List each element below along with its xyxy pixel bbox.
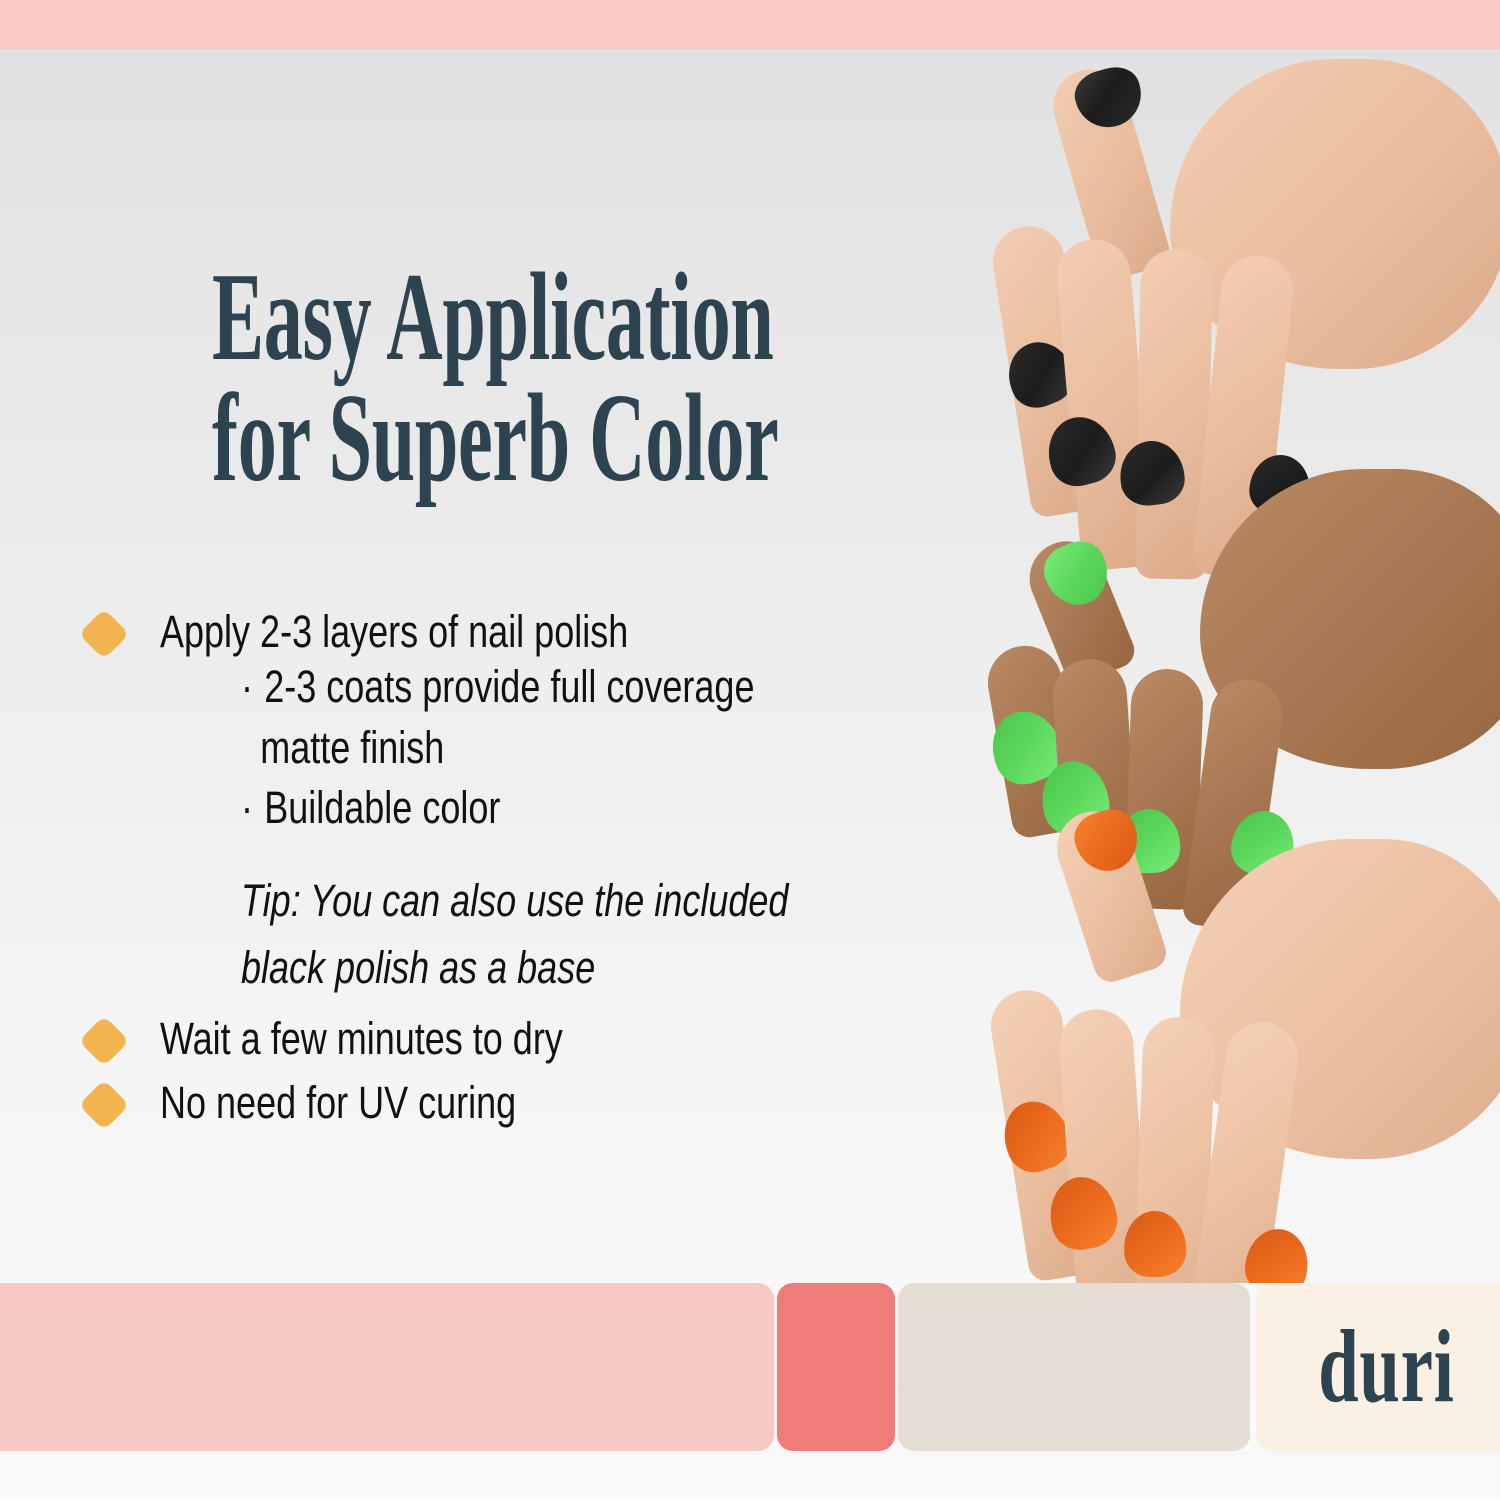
page-title: Easy Application for Superb Color <box>212 258 925 500</box>
bottom-strip <box>0 1451 1500 1500</box>
swatch-coral <box>777 1283 895 1451</box>
top-pink-band <box>0 0 1500 49</box>
headline-line-1: Easy Application <box>212 248 774 387</box>
bullet-label: Apply 2-3 layers of nail polish <box>160 608 821 655</box>
sub-item-text: Buildable color <box>264 782 500 833</box>
list-item: Wait a few minutes to dry <box>86 1015 986 1062</box>
brand-logo: duri <box>1256 1283 1500 1451</box>
instructions-list: Apply 2-3 layers of nail polish ·2-3 coa… <box>86 608 986 1132</box>
diamond-bullet-icon <box>79 609 130 660</box>
hands-photo <box>980 49 1500 1283</box>
swatch-beige <box>898 1283 1250 1451</box>
dot-bullet-icon: · <box>241 661 253 712</box>
list-item: No need for UV curing <box>86 1079 986 1126</box>
infographic-canvas: Easy Application for Superb Color Apply … <box>0 0 1500 1500</box>
diamond-bullet-icon <box>79 1016 130 1067</box>
bullet-label: No need for UV curing <box>160 1079 821 1126</box>
headline-line-2: for Superb Color <box>212 379 925 500</box>
swatch-pink <box>0 1283 774 1451</box>
list-item: Apply 2-3 layers of nail polish <box>86 608 986 655</box>
bullet-label: Wait a few minutes to dry <box>160 1015 821 1062</box>
diamond-bullet-icon <box>79 1079 130 1130</box>
brand-logo-text: duri <box>1318 1315 1454 1419</box>
sub-item-text: 2-3 coats provide full coverage <box>264 661 754 712</box>
dot-bullet-icon: · <box>241 782 253 833</box>
